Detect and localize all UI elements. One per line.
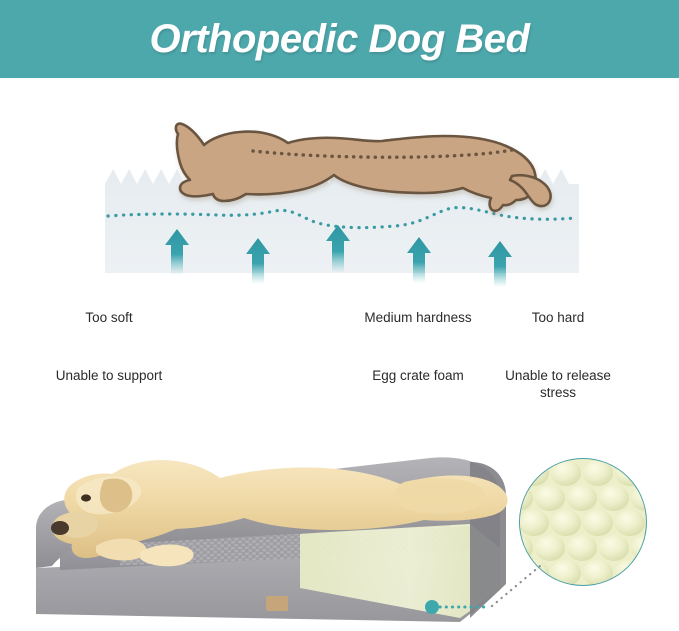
product-photo-section: 25D Egg Crate Orthopedic Foam bbox=[0, 418, 679, 631]
scale-bottom-label-too-soft: Unable to support bbox=[29, 368, 189, 385]
scale-bottom-label-too-hard: Unable to release stress bbox=[494, 368, 622, 402]
dog-nose bbox=[51, 521, 69, 535]
pressure-diagram bbox=[0, 88, 679, 288]
brand-tag bbox=[266, 596, 288, 611]
callout-anchor-dot bbox=[425, 600, 439, 614]
infographic-page: Orthopedic Dog Bed bbox=[0, 0, 679, 631]
egg-crate-texture bbox=[503, 457, 661, 587]
header-banner: Orthopedic Dog Bed bbox=[0, 0, 679, 78]
dog-eye bbox=[81, 494, 91, 501]
scale-bottom-label-medium-hardness: Egg crate foam bbox=[348, 368, 488, 385]
scale-top-label-too-hard: Too hard bbox=[498, 310, 618, 325]
scale-top-label-too-soft: Too soft bbox=[39, 310, 179, 325]
hardness-scale: Too soft 1 Unable to support Medium hard… bbox=[0, 300, 679, 405]
scale-top-label-medium-hardness: Medium hardness bbox=[338, 310, 498, 325]
page-title: Orthopedic Dog Bed bbox=[150, 17, 530, 62]
